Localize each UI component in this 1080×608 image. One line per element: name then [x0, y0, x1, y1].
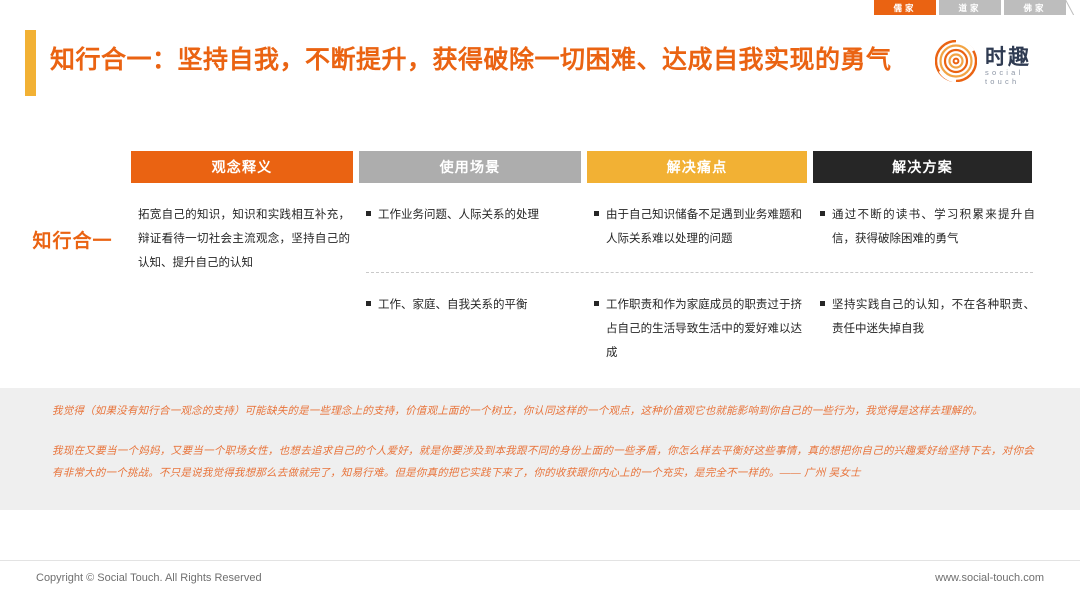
cell-r0-c2: 由于自己知识储备不足遇到业务难题和人际关系难以处理的问题 [594, 203, 802, 251]
cell-paragraph: 拓宽自己的知识，知识和实践相互补充，辩证看待一切社会主流观念，坚持自己的认知、提… [138, 203, 350, 275]
fingerprint-spiral-icon [935, 40, 977, 82]
bullet-item: 通过不断的读书、学习积累来提升自信，获得破除困难的勇气 [820, 203, 1035, 251]
column-header-3: 解决方案 [813, 151, 1032, 183]
quote-paragraph-1: 我觉得（如果没有知行合一观念的支持）可能缺失的是一些理念上的支持，价值观上面的一… [52, 400, 1032, 422]
row-divider [366, 272, 1033, 273]
page-title: 知行合一：坚持自我，不断提升，获得破除一切困难、达成自我实现的勇气 [50, 38, 910, 82]
cell-r1-c1: 工作、家庭、自我关系的平衡 [366, 293, 576, 317]
bullet-item: 工作、家庭、自我关系的平衡 [366, 293, 576, 317]
bullet-text: 工作、家庭、自我关系的平衡 [378, 293, 576, 317]
square-bullet-icon [366, 293, 378, 317]
cell-r1-c3: 坚持实践自己的认知，不在各种职责、责任中迷失掉自我 [820, 293, 1035, 341]
column-header-0: 观念释义 [131, 151, 353, 183]
footer-url[interactable]: www.social-touch.com [935, 572, 1044, 584]
category-tabbar: 儒家 道家 佛家 [874, 0, 1069, 15]
column-header-2: 解决痛点 [587, 151, 807, 183]
tab-daojia[interactable]: 道家 [939, 0, 1001, 15]
bullet-text: 通过不断的读书、学习积累来提升自信，获得破除困难的勇气 [832, 203, 1035, 251]
tab-fojia[interactable]: 佛家 [1004, 0, 1066, 15]
cell-r0-c3: 通过不断的读书、学习积累来提升自信，获得破除困难的勇气 [820, 203, 1035, 251]
title-accent-bar [25, 30, 36, 96]
brand-tagline: social touch [985, 68, 1053, 86]
footer-divider [0, 560, 1080, 561]
quote-paragraph-2: 我现在又要当一个妈妈，又要当一个职场女性，也想去追求自己的个人爱好，就是你要涉及… [52, 440, 1034, 484]
brand-logo: 时趣 social touch [935, 38, 1053, 84]
square-bullet-icon [594, 293, 606, 365]
cell-r0-c0: 拓宽自己的知识，知识和实践相互补充，辩证看待一切社会主流观念，坚持自己的认知、提… [138, 203, 350, 275]
square-bullet-icon [820, 203, 832, 251]
square-bullet-icon [820, 293, 832, 341]
tabbar-slash-decoration [1062, 0, 1080, 15]
square-bullet-icon [366, 203, 378, 227]
cell-r1-c2: 工作职责和作为家庭成员的职责过于挤占自己的生活导致生活中的爱好难以达成 [594, 293, 802, 365]
bullet-text: 坚持实践自己的认知，不在各种职责、责任中迷失掉自我 [832, 293, 1035, 341]
column-header-1: 使用场景 [359, 151, 581, 183]
brand-name: 时趣 [985, 41, 1031, 71]
bullet-item: 由于自己知识储备不足遇到业务难题和人际关系难以处理的问题 [594, 203, 802, 251]
footer-copyright: Copyright © Social Touch. All Rights Res… [36, 572, 262, 584]
bullet-item: 坚持实践自己的认知，不在各种职责、责任中迷失掉自我 [820, 293, 1035, 341]
bullet-text: 由于自己知识储备不足遇到业务难题和人际关系难以处理的问题 [606, 203, 802, 251]
square-bullet-icon [594, 203, 606, 251]
tab-rujia[interactable]: 儒家 [874, 0, 936, 15]
bullet-item: 工作职责和作为家庭成员的职责过于挤占自己的生活导致生活中的爱好难以达成 [594, 293, 802, 365]
bullet-text: 工作业务问题、人际关系的处理 [378, 203, 576, 227]
slide-canvas: 儒家 道家 佛家 知行合一：坚持自我，不断提升，获得破除一切困难、达成自我实现的… [0, 0, 1080, 608]
bullet-text: 工作职责和作为家庭成员的职责过于挤占自己的生活导致生活中的爱好难以达成 [606, 293, 802, 365]
bullet-item: 工作业务问题、人际关系的处理 [366, 203, 576, 227]
cell-r0-c1: 工作业务问题、人际关系的处理 [366, 203, 576, 227]
row-label: 知行合一 [20, 226, 125, 253]
